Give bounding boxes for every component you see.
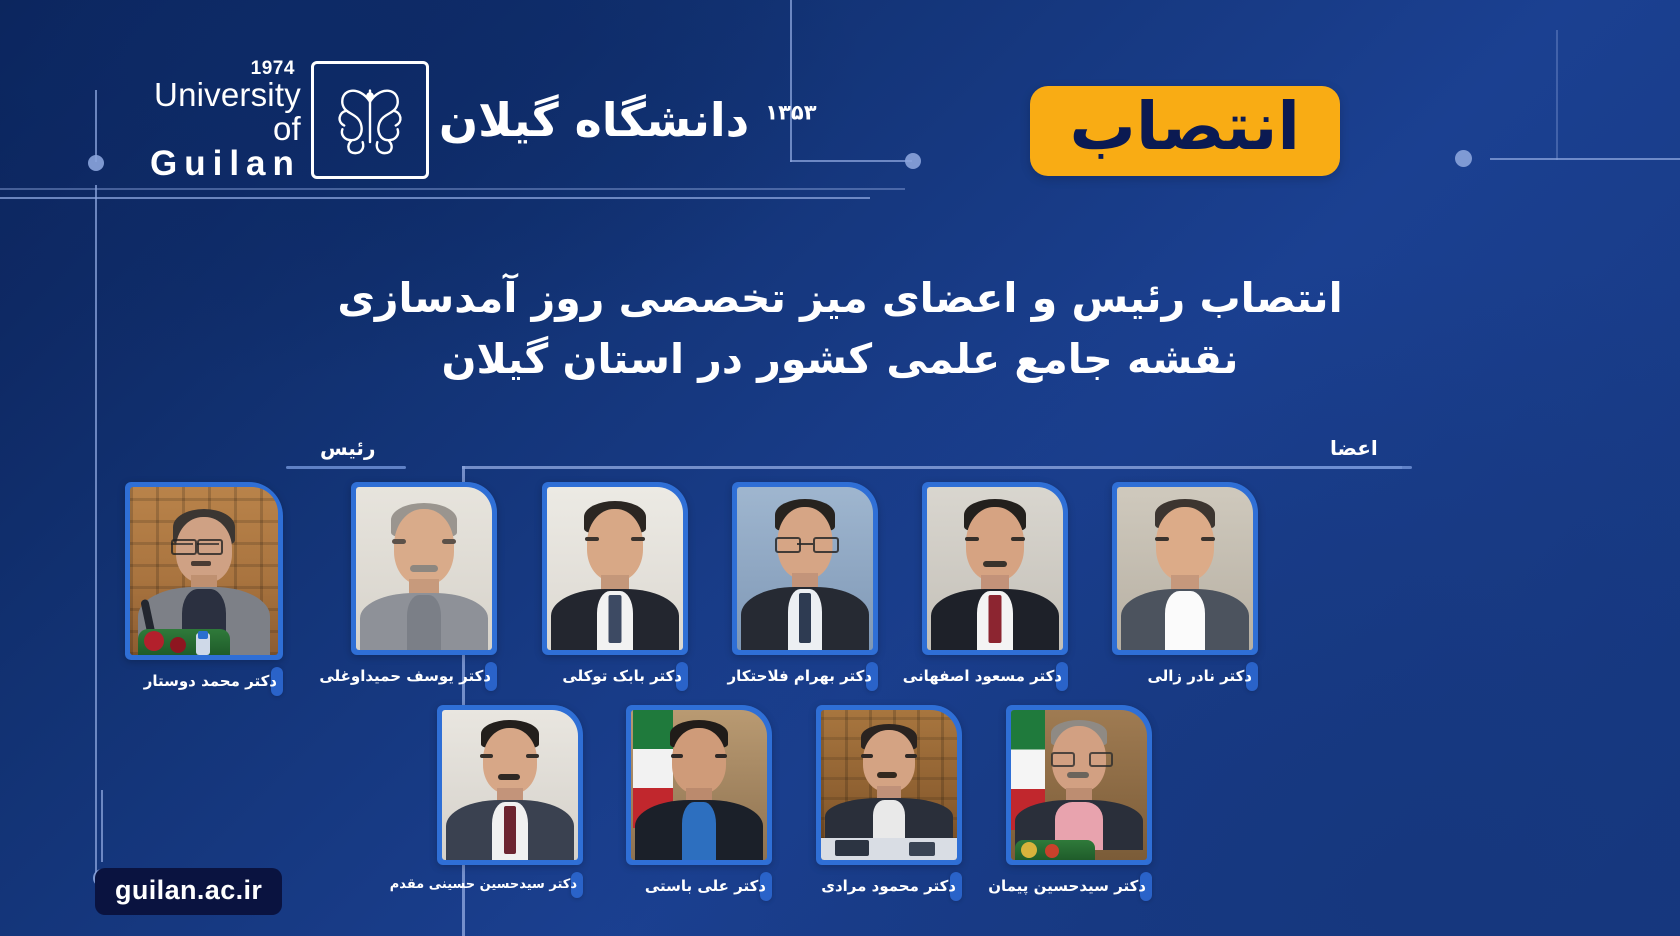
person-name: دکتر مسعود اصفهانی [1056,662,1068,691]
person-photo [130,487,278,655]
person-photo [821,710,957,860]
decor-line-mid-horizontal [0,188,905,190]
section-rule-chief [286,466,406,469]
logo-year-fa: ۱۳۵۳ [765,101,816,125]
person-name: دکتر سیدحسین حسینی مقدم [571,872,583,898]
logo-name-en-line2: Guilan [150,146,301,182]
photo-frame [732,482,878,655]
person-name: دکتر بابک توکلی [676,662,688,691]
person-photo [442,710,578,860]
page-title-line1: انتصاب رئیس و اعضای میز تخصصی روز آمدساز… [0,268,1680,329]
photo-frame [125,482,283,660]
section-rule-members [1290,466,1412,469]
decor-line-center-horizontal [790,160,912,162]
photo-frame [351,482,497,655]
person-name: دکتر محمود مرادی [950,872,962,901]
person-name: دکتر نادر زالی [1246,662,1258,691]
person-name: دکتر یوسف حمیداوغلی [485,662,497,691]
person-name: دکتر بهرام فلاحتکار [866,662,878,691]
decor-dot-right [1455,150,1472,167]
photo-frame [1112,482,1258,655]
person-name: دکتر علی باستی [760,872,772,901]
person-photo [547,487,683,650]
photo-frame [922,482,1068,655]
logo-english-text: 1974 University of Guilan [150,59,301,181]
appointment-badge: انتصاب [1030,86,1340,176]
person-photo [1117,487,1253,650]
photo-frame [437,705,583,865]
appointment-banner: 1974 University of Guilan ۱۳۵۳ دانشگ [0,0,1680,936]
photo-frame [626,705,772,865]
logo-name-en-line1: University of [150,78,301,145]
person-photo [737,487,873,650]
person-photo [631,710,767,860]
logo-name-fa: دانشگاه گیلان [439,93,749,147]
decor-dot-center [905,153,921,169]
website-url[interactable]: guilan.ac.ir [95,868,282,915]
decor-line-url-vertical [101,790,103,862]
person-name: دکتر سیدحسین پیمان [1140,872,1152,901]
decor-line-members-horizontal [462,466,1402,469]
logo-persian-text: ۱۳۵۳ دانشگاه گیلان [439,97,817,143]
university-logo: 1974 University of Guilan ۱۳۵۳ دانشگ [150,55,710,185]
decor-line-left-stub [95,90,97,162]
person-photo [356,487,492,650]
decor-line-right-vertical [1556,30,1558,160]
photo-frame [542,482,688,655]
section-label-members: اعضا [1330,436,1378,460]
person-photo [1011,710,1147,860]
decor-line-right-horizontal [1490,158,1680,160]
person-name: دکتر محمد دوستار [271,667,283,696]
section-label-chief: رئیس [320,436,375,460]
decor-line-top-left-horizontal [0,197,870,199]
photo-frame [816,705,962,865]
photo-frame [1006,705,1152,865]
page-title-line2: نقشه جامع علمی کشور در استان گیلان [0,329,1680,390]
page-title: انتصاب رئیس و اعضای میز تخصصی روز آمدساز… [0,268,1680,389]
butterfly-emblem-icon [311,61,429,179]
person-photo [927,487,1063,650]
